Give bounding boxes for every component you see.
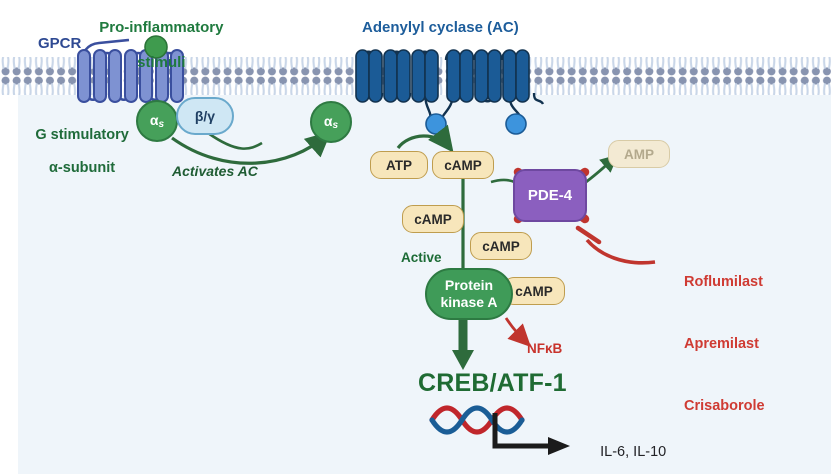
- drug-item-apremilast: Apremilast: [684, 334, 765, 355]
- pka-line-2: kinase A: [440, 294, 497, 310]
- output-line-1: IL-6, IL-10: [600, 444, 666, 460]
- alpha-s-subunit-free: αs: [310, 101, 352, 143]
- gpcr-label: GPCR: [38, 35, 81, 52]
- camp-node-1: cAMP: [432, 151, 494, 179]
- g-subunit-label: G stimulatory α-subunit: [8, 110, 140, 193]
- beta-gamma-subunit: β/γ: [176, 97, 234, 135]
- beta-gamma-text: β/γ: [195, 108, 215, 124]
- creb-atf1-label: CREB/ATF-1: [418, 369, 567, 398]
- atp-node: ATP: [370, 151, 428, 179]
- stimuli-label: Pro-inflammatory stimuli: [78, 2, 228, 88]
- active-label: Active: [401, 250, 442, 266]
- drug-list: Roflumilast Apremilast Crisaborole: [684, 231, 765, 457]
- ac-catalytic-domain-1: [426, 114, 446, 134]
- ac-catalytic-domain-2: [506, 114, 526, 134]
- activates-ac-label: Activates AC: [172, 163, 258, 179]
- camp-node-3: cAMP: [470, 232, 532, 260]
- g-subunit-line-2: α-subunit: [49, 160, 115, 176]
- adenylyl-cyclase-label: Adenylyl cyclase (AC): [362, 19, 519, 36]
- camp-node-2: cAMP: [402, 205, 464, 233]
- alpha-s-subunit-bound: αs: [136, 100, 178, 142]
- pka-line-1: Protein: [445, 277, 493, 293]
- drug-item-crisaborole: Crisaborole: [684, 396, 765, 417]
- diagram-canvas: GPCR Pro-inflammatory stimuli G stimulat…: [0, 0, 831, 474]
- alpha-s-bound-text: αs: [150, 112, 164, 130]
- stimuli-line-2: stimuli: [137, 54, 185, 71]
- g-subunit-line-1: G stimulatory: [35, 127, 128, 143]
- stimuli-line-1: Pro-inflammatory: [99, 19, 223, 36]
- protein-kinase-a-node: Protein kinase A: [425, 268, 513, 320]
- alpha-s-free-text: αs: [324, 113, 338, 131]
- drug-item-roflumilast: Roflumilast: [684, 272, 765, 293]
- amp-node: AMP: [608, 140, 670, 168]
- pde4-node: PDE-4: [513, 169, 587, 222]
- nfkb-label: NFκB: [527, 341, 562, 357]
